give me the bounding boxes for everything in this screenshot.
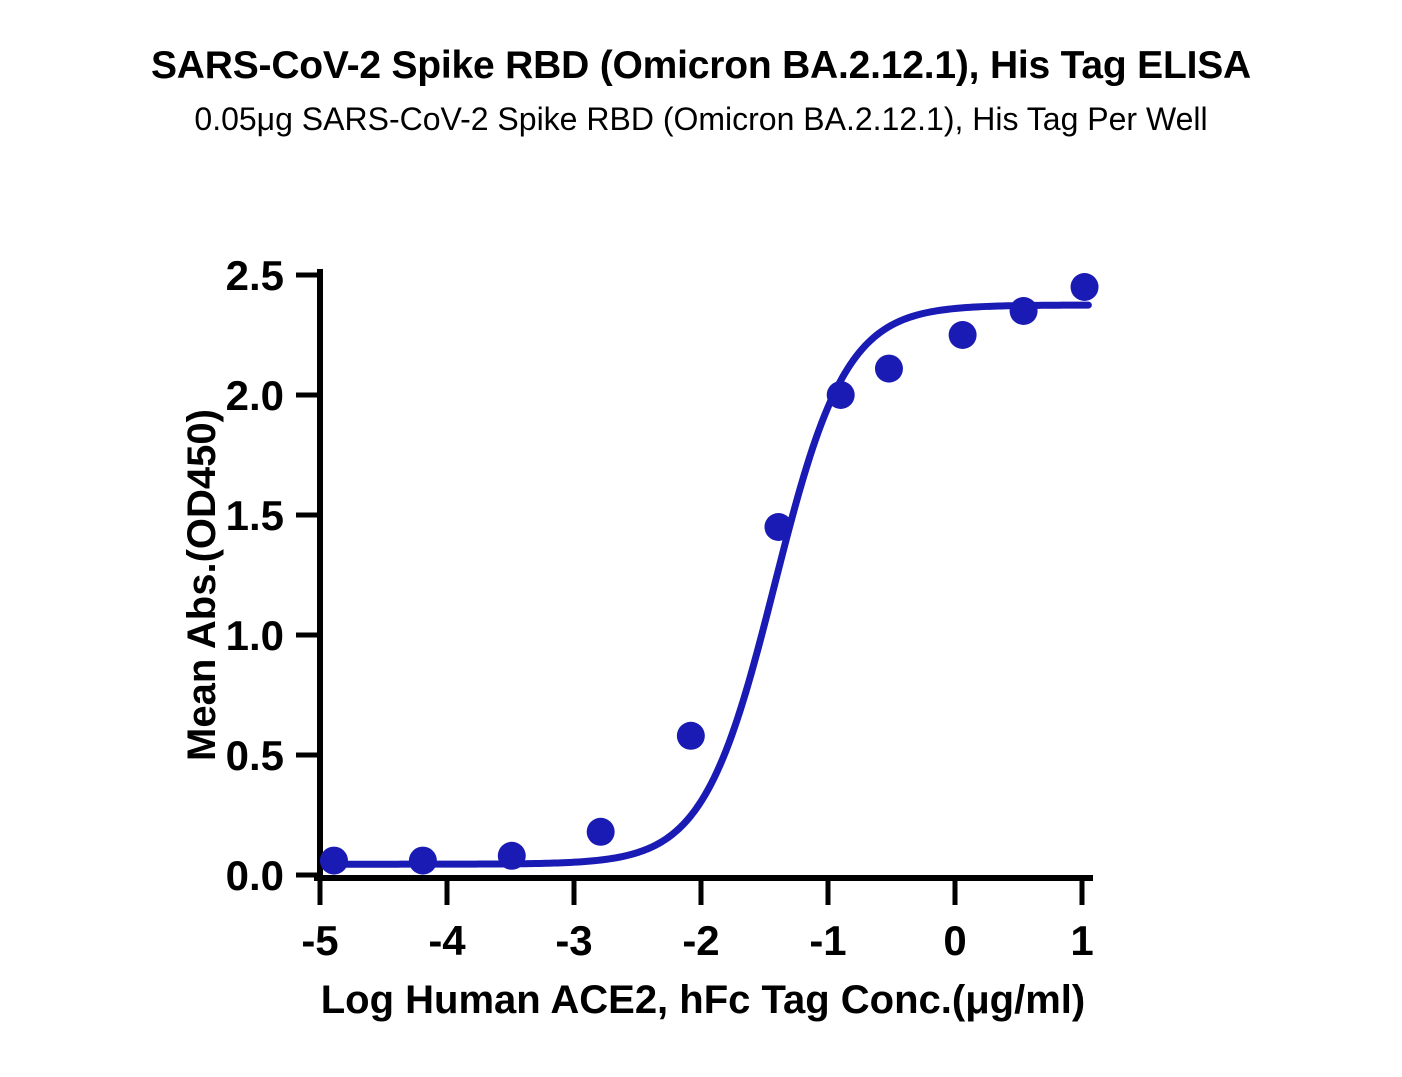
data-point	[1010, 297, 1038, 325]
y-tick-label: 0.5	[226, 732, 284, 779]
y-tick-label: 1.0	[226, 612, 284, 659]
y-tick-label: 2.5	[226, 252, 284, 299]
elisa-figure: SARS-CoV-2 Spike RBD (Omicron BA.2.12.1)…	[0, 0, 1402, 1077]
x-tick-label: -2	[682, 917, 719, 964]
data-point	[409, 847, 437, 875]
y-axis: 0.00.51.01.52.02.5	[226, 252, 320, 899]
x-axis: -5-4-3-2-101	[301, 878, 1093, 964]
x-tick-label: -1	[809, 917, 846, 964]
data-point	[1071, 273, 1099, 301]
data-point	[677, 722, 705, 750]
data-point	[320, 847, 348, 875]
x-axis-title: Log Human ACE2, hFc Tag Conc.(μg/ml)	[321, 978, 1085, 1022]
x-tick-label: -5	[301, 917, 338, 964]
data-point	[827, 381, 855, 409]
y-tick-label: 1.5	[226, 492, 284, 539]
y-tick-label: 2.0	[226, 372, 284, 419]
y-tick-group: 0.00.51.01.52.02.5	[226, 252, 320, 899]
fit-curve-group	[334, 305, 1088, 864]
x-tick-label: -3	[555, 917, 592, 964]
dose-response-curve	[334, 305, 1088, 864]
x-tick-label: 0	[943, 917, 966, 964]
data-point	[498, 842, 526, 870]
y-axis-title: Mean Abs.(OD450)	[180, 409, 224, 761]
x-tick-group: -5-4-3-2-101	[301, 878, 1093, 964]
x-tick-label: -4	[428, 917, 466, 964]
chart-plot-area: 0.00.51.01.52.02.5 -5-4-3-2-101 Mean Abs…	[0, 0, 1402, 1077]
data-point	[587, 818, 615, 846]
x-tick-label: 1	[1070, 917, 1093, 964]
y-tick-label: 0.0	[226, 852, 284, 899]
data-point	[875, 355, 903, 383]
data-point	[764, 513, 792, 541]
data-point	[949, 321, 977, 349]
